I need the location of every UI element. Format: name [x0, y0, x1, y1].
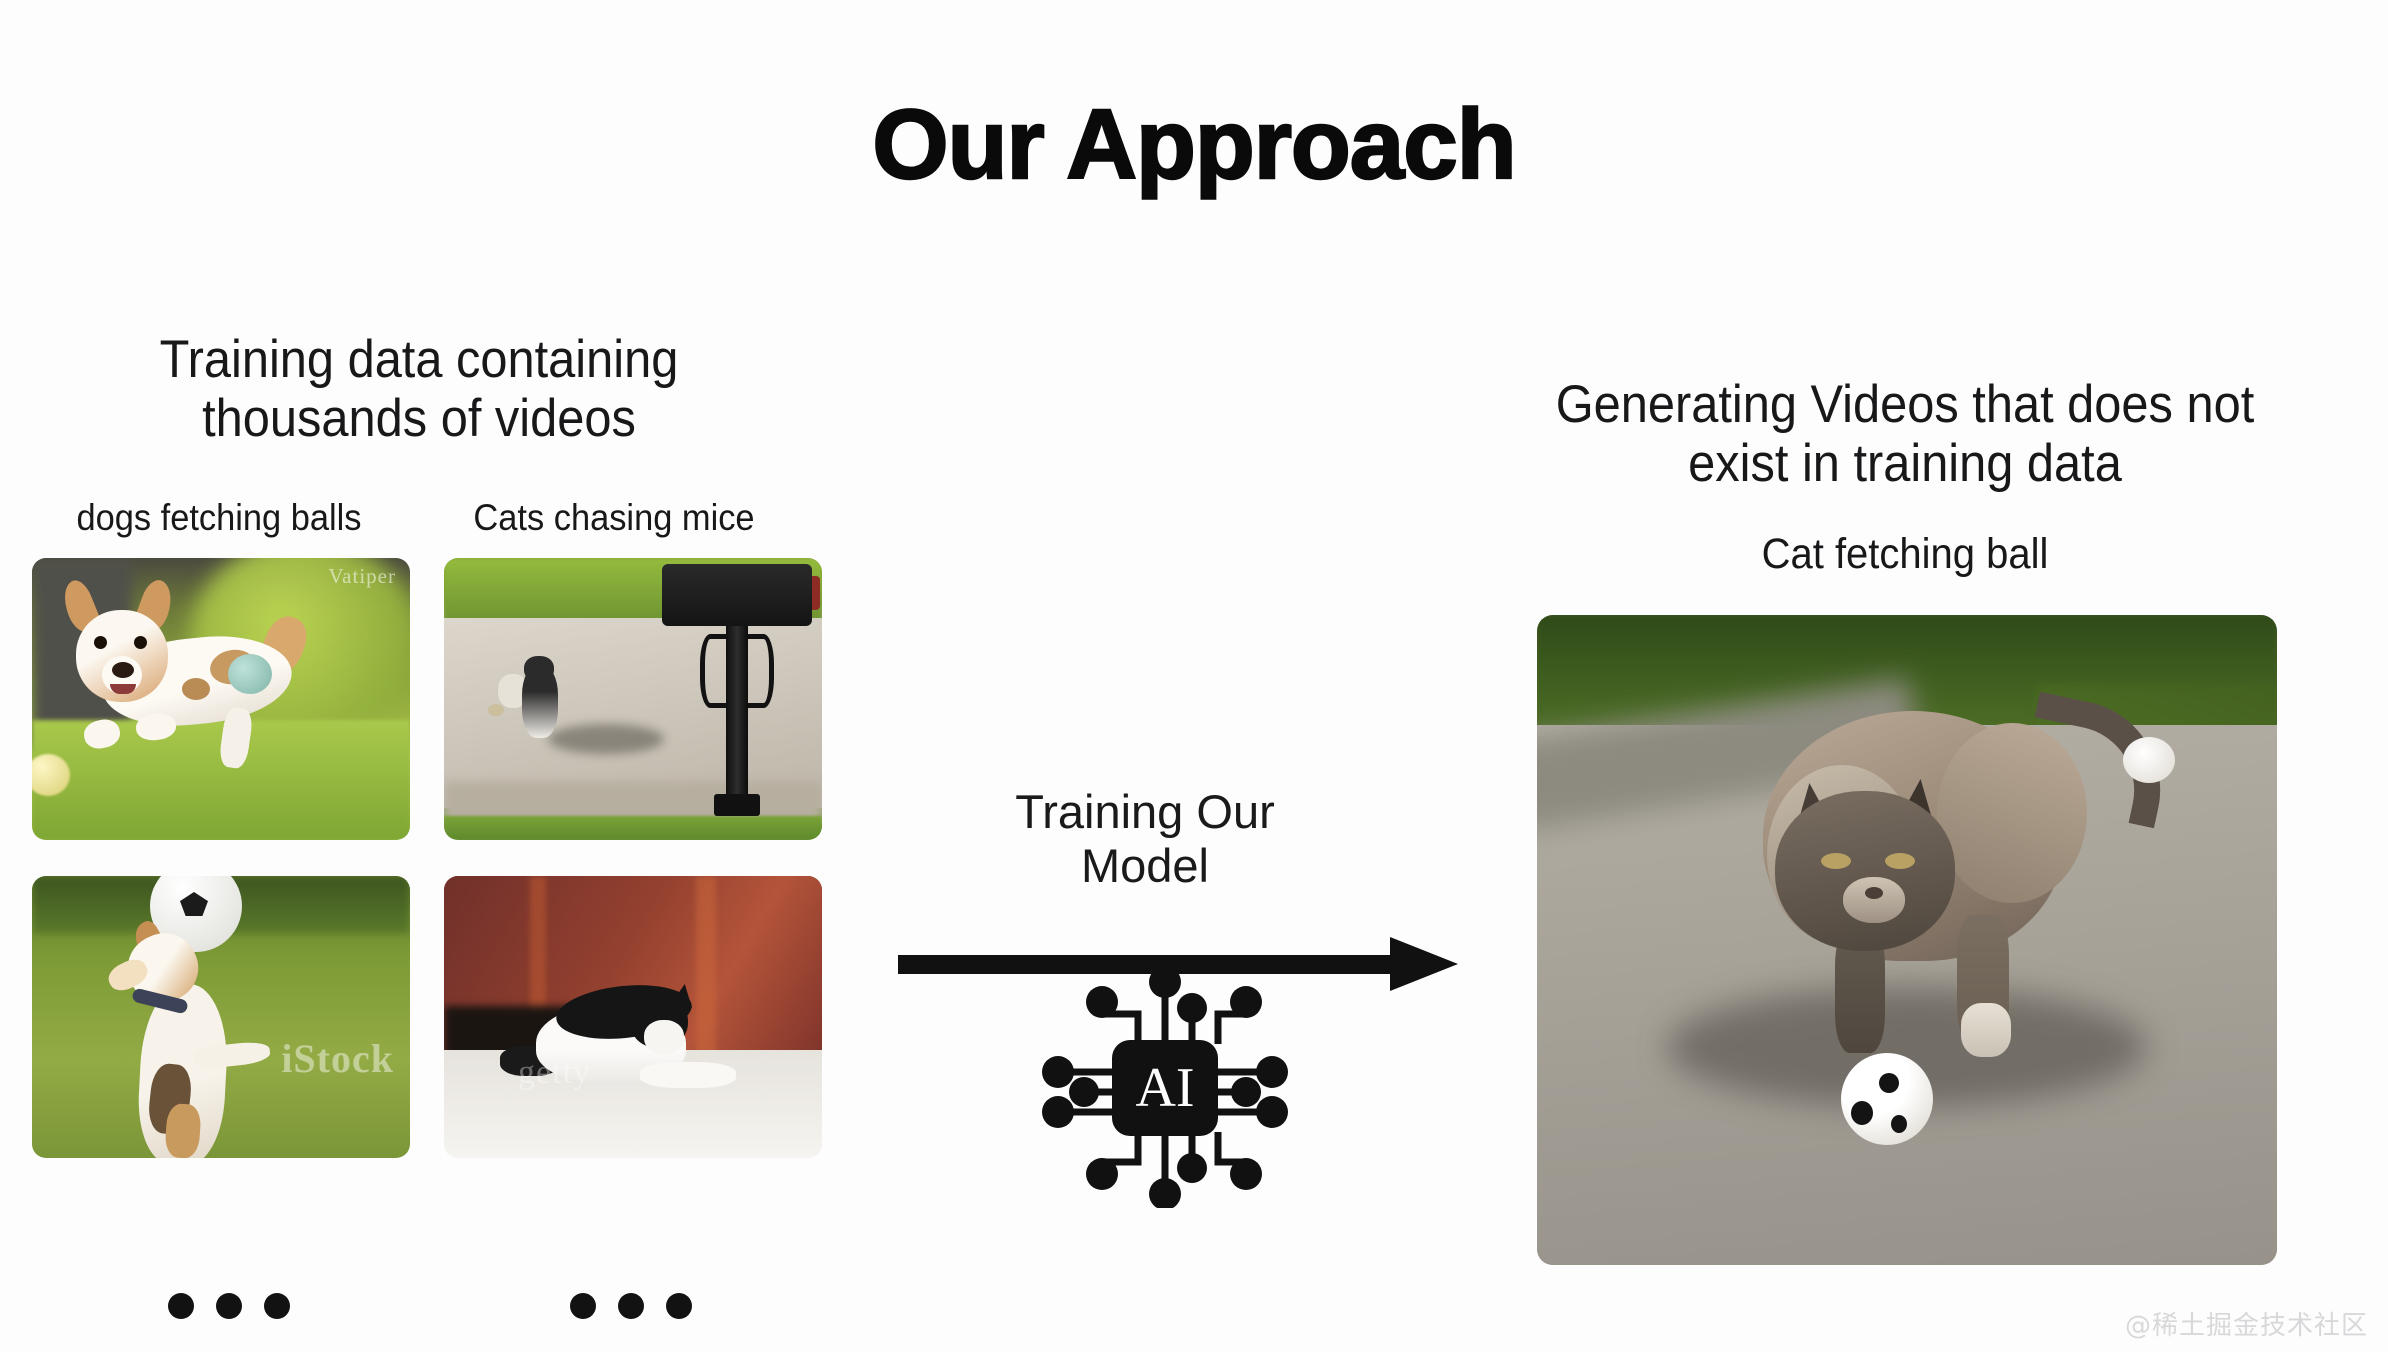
mailbox-scroll-right	[748, 634, 774, 708]
ai-chip-icon: AI	[1040, 968, 1290, 1208]
cat-haunch	[1937, 723, 2087, 903]
training-label-line2: Model	[935, 839, 1355, 893]
thumbnail-cat-indoor[interactable]: getty	[444, 876, 822, 1158]
getty-watermark: getty	[518, 1054, 591, 1092]
dot	[264, 1293, 290, 1319]
mouse	[488, 704, 504, 716]
mailbox-post-base	[714, 794, 760, 816]
cat-front-paw	[640, 1062, 736, 1088]
dog-nose	[112, 662, 134, 678]
generated-video-frame[interactable]	[1537, 615, 2277, 1265]
caption-dogs-fetching-balls: dogs fetching balls	[38, 497, 401, 539]
ball-spot	[1851, 1101, 1873, 1125]
training-our-model-label: Training Our Model	[935, 785, 1355, 893]
cat-muzzle	[1843, 877, 1905, 923]
caption-cats-chasing-mice: Cats chasing mice	[428, 497, 800, 539]
training-data-heading: Training data containing thousands of vi…	[56, 330, 783, 449]
dot	[216, 1293, 242, 1319]
slide-canvas: Our Approach Training data containing th…	[0, 0, 2388, 1352]
site-watermark: @稀土掘金技术社区	[2125, 1305, 2368, 1342]
cat-eye-right	[1885, 853, 1915, 869]
dot	[570, 1293, 596, 1319]
wall-stripe-right	[696, 876, 716, 1066]
thumbnail-cat-chasing-mouse[interactable]	[444, 558, 822, 840]
stock-watermark: Vatiper	[328, 564, 396, 589]
mailbox-scroll-left	[700, 634, 726, 708]
dot	[168, 1293, 194, 1319]
dog-eye-left	[94, 636, 107, 649]
cat-head	[524, 656, 554, 682]
ball-spot	[1879, 1073, 1899, 1093]
dot	[618, 1293, 644, 1319]
soccer-ball	[1841, 1053, 1933, 1145]
thumbnail-dog-jumping[interactable]: iStock	[32, 876, 410, 1158]
training-thumbnail-grid: Vatiper	[32, 558, 822, 1158]
dot	[666, 1293, 692, 1319]
page-title: Our Approach	[0, 95, 2388, 193]
training-captions-row: dogs fetching balls Cats chasing mice	[24, 497, 814, 539]
mailbox	[662, 564, 812, 626]
dog-tan-patch	[164, 1103, 202, 1158]
ball-toy	[228, 654, 272, 694]
mailbox-post	[726, 620, 748, 810]
training-label-line1: Training Our	[935, 785, 1355, 839]
generating-videos-heading: Generating Videos that does not exist in…	[1542, 375, 2269, 494]
dog-patch-small	[182, 678, 210, 700]
caption-cat-fetching-ball: Cat fetching ball	[1538, 530, 2273, 579]
ellipsis-dogs-column	[168, 1293, 290, 1319]
cat-eye-left	[1821, 853, 1851, 869]
ball-spot	[1891, 1115, 1907, 1133]
cat-shadow	[548, 724, 664, 754]
cat-nose	[1865, 887, 1883, 899]
training-data-section: Training data containing thousands of vi…	[24, 330, 814, 449]
cat-head	[1775, 791, 1955, 951]
cat-face-white	[644, 1020, 684, 1054]
cat-paw-right-white	[1961, 1003, 2011, 1057]
istock-watermark: iStock	[281, 1035, 394, 1082]
ai-chip-label: AI	[1135, 1057, 1194, 1119]
cat-tail-tip	[2123, 737, 2175, 783]
ellipsis-cats-column	[570, 1293, 692, 1319]
lawn-strip	[444, 816, 822, 840]
dog-eye-right	[134, 636, 147, 649]
thumbnail-dog-running[interactable]: Vatiper	[32, 558, 410, 840]
